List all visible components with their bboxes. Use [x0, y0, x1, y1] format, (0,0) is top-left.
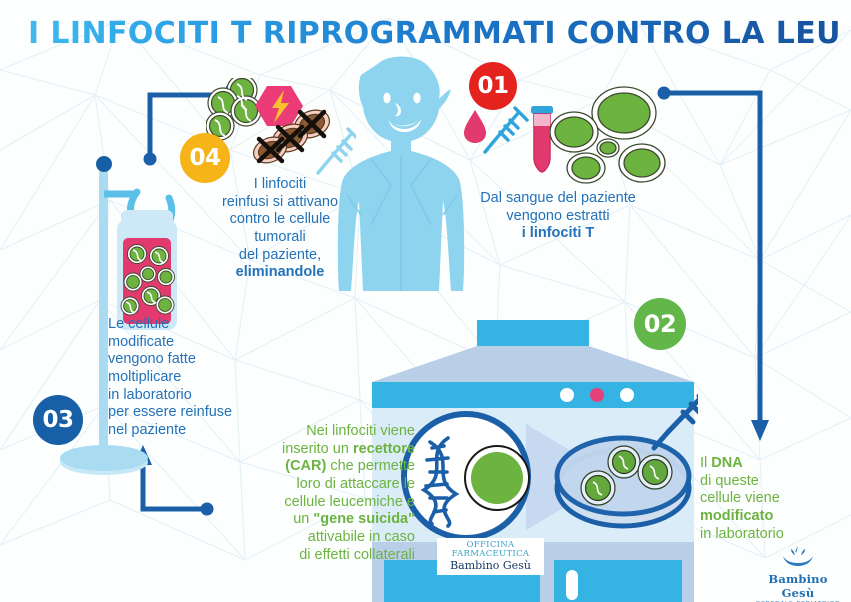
caption-line: in laboratorio [700, 526, 840, 544]
step-01-caption: Dal sangue del paziente vengono estratti… [449, 190, 667, 243]
caption-line: in laboratorio [108, 387, 258, 405]
caption-text: un [293, 511, 313, 527]
caption-line-bold: i linfociti T [449, 225, 667, 243]
caption-text: inserito un [282, 441, 353, 457]
caption-line: moltiplicare [108, 369, 258, 387]
syringe-icon [485, 108, 527, 152]
caption-line: Nei linfociti viene [230, 423, 415, 441]
lab-hood-top [477, 320, 589, 346]
hospital-logo[interactable]: Bambino Gesù OSPEDALE PEDIATRICO [752, 545, 844, 602]
caption-line: tumorali [205, 229, 355, 247]
caption-line: un "gene suicida" [230, 511, 415, 529]
caption-line: inserito un recettore [230, 441, 415, 459]
caption-line: modificate [108, 334, 258, 352]
step-03-caption: Le cellule modificate vengono fatte molt… [108, 316, 258, 440]
lightning-bolt-icon [255, 86, 303, 126]
caption-line: di queste [700, 473, 840, 491]
caption-line: per essere reinfuse [108, 404, 258, 422]
caption-line: di effetti collaterali [230, 547, 415, 565]
fountain-hands-logo-icon [781, 545, 815, 567]
infographic-canvas: I LINFOCITI T RIPROGRAMMATI CONTRO LA LE… [0, 0, 851, 602]
microscope-view-icon [404, 414, 529, 538]
step-badge-03[interactable]: 03 [33, 395, 83, 445]
caption-line: cellule viene [700, 490, 840, 508]
caption-line: (CAR) che permette [230, 458, 415, 476]
caption-line-bold: modificato [700, 508, 840, 526]
step04-icons [206, 78, 356, 183]
logo-name: Bambino Gesù [752, 572, 844, 600]
caption-line: reinfusi si attivano [205, 194, 355, 212]
caption-line: contro le cellule [205, 211, 355, 229]
caption-text-bold: recettore [353, 441, 415, 457]
lab-hood-panel [372, 382, 694, 408]
caption-text-bold: (CAR) [285, 458, 326, 474]
lymphocyte-cells-icon [550, 85, 675, 190]
caption-text-bold: "gene suicida" [313, 511, 415, 527]
caption-line: del paziente, [205, 247, 355, 265]
caption-line: vengono fatte [108, 351, 258, 369]
petri-dish-icon [557, 438, 689, 526]
blood-bag-icon [117, 210, 177, 330]
step-02-caption-left: Nei linfociti viene inserito un recettor… [230, 423, 415, 565]
pharmacy-label-line3: Bambino Gesù [450, 560, 531, 573]
caption-line: Il DNA [700, 455, 840, 473]
caption-text: Il [700, 455, 711, 471]
caption-line: Le cellule [108, 316, 258, 334]
caption-line: attivabile in caso [230, 529, 415, 547]
caption-text: che permette [326, 458, 415, 474]
caption-line: I linfociti [205, 176, 355, 194]
lab-indicator-lights [560, 388, 634, 402]
step-02-caption-right: Il DNA di queste cellule viene modificat… [700, 455, 840, 543]
step-04-caption: I linfociti reinfusi si attivano contro … [205, 176, 355, 282]
caption-line-bold: eliminandole [205, 264, 355, 282]
modified-cells-icon [206, 78, 261, 140]
caption-line: cellule leucemiche e [230, 494, 415, 512]
caption-line: loro di attaccare le [230, 476, 415, 494]
lab-hood-canopy [372, 346, 694, 382]
step-badge-02[interactable]: 02 [634, 298, 686, 350]
caption-line: Dal sangue del paziente [449, 190, 667, 208]
caption-text-bold: DNA [711, 455, 742, 471]
cabinet-handle [566, 570, 578, 600]
pharmacy-label: OFFICINA FARMACEUTICA Bambino Gesù [437, 538, 544, 575]
caption-line: vengono estratti [449, 208, 667, 226]
blood-drop-icon [464, 110, 486, 143]
blood-extraction-icons [455, 100, 555, 180]
step-badge-01[interactable]: 01 [469, 62, 517, 110]
iv-stand-top-dot [96, 156, 112, 172]
